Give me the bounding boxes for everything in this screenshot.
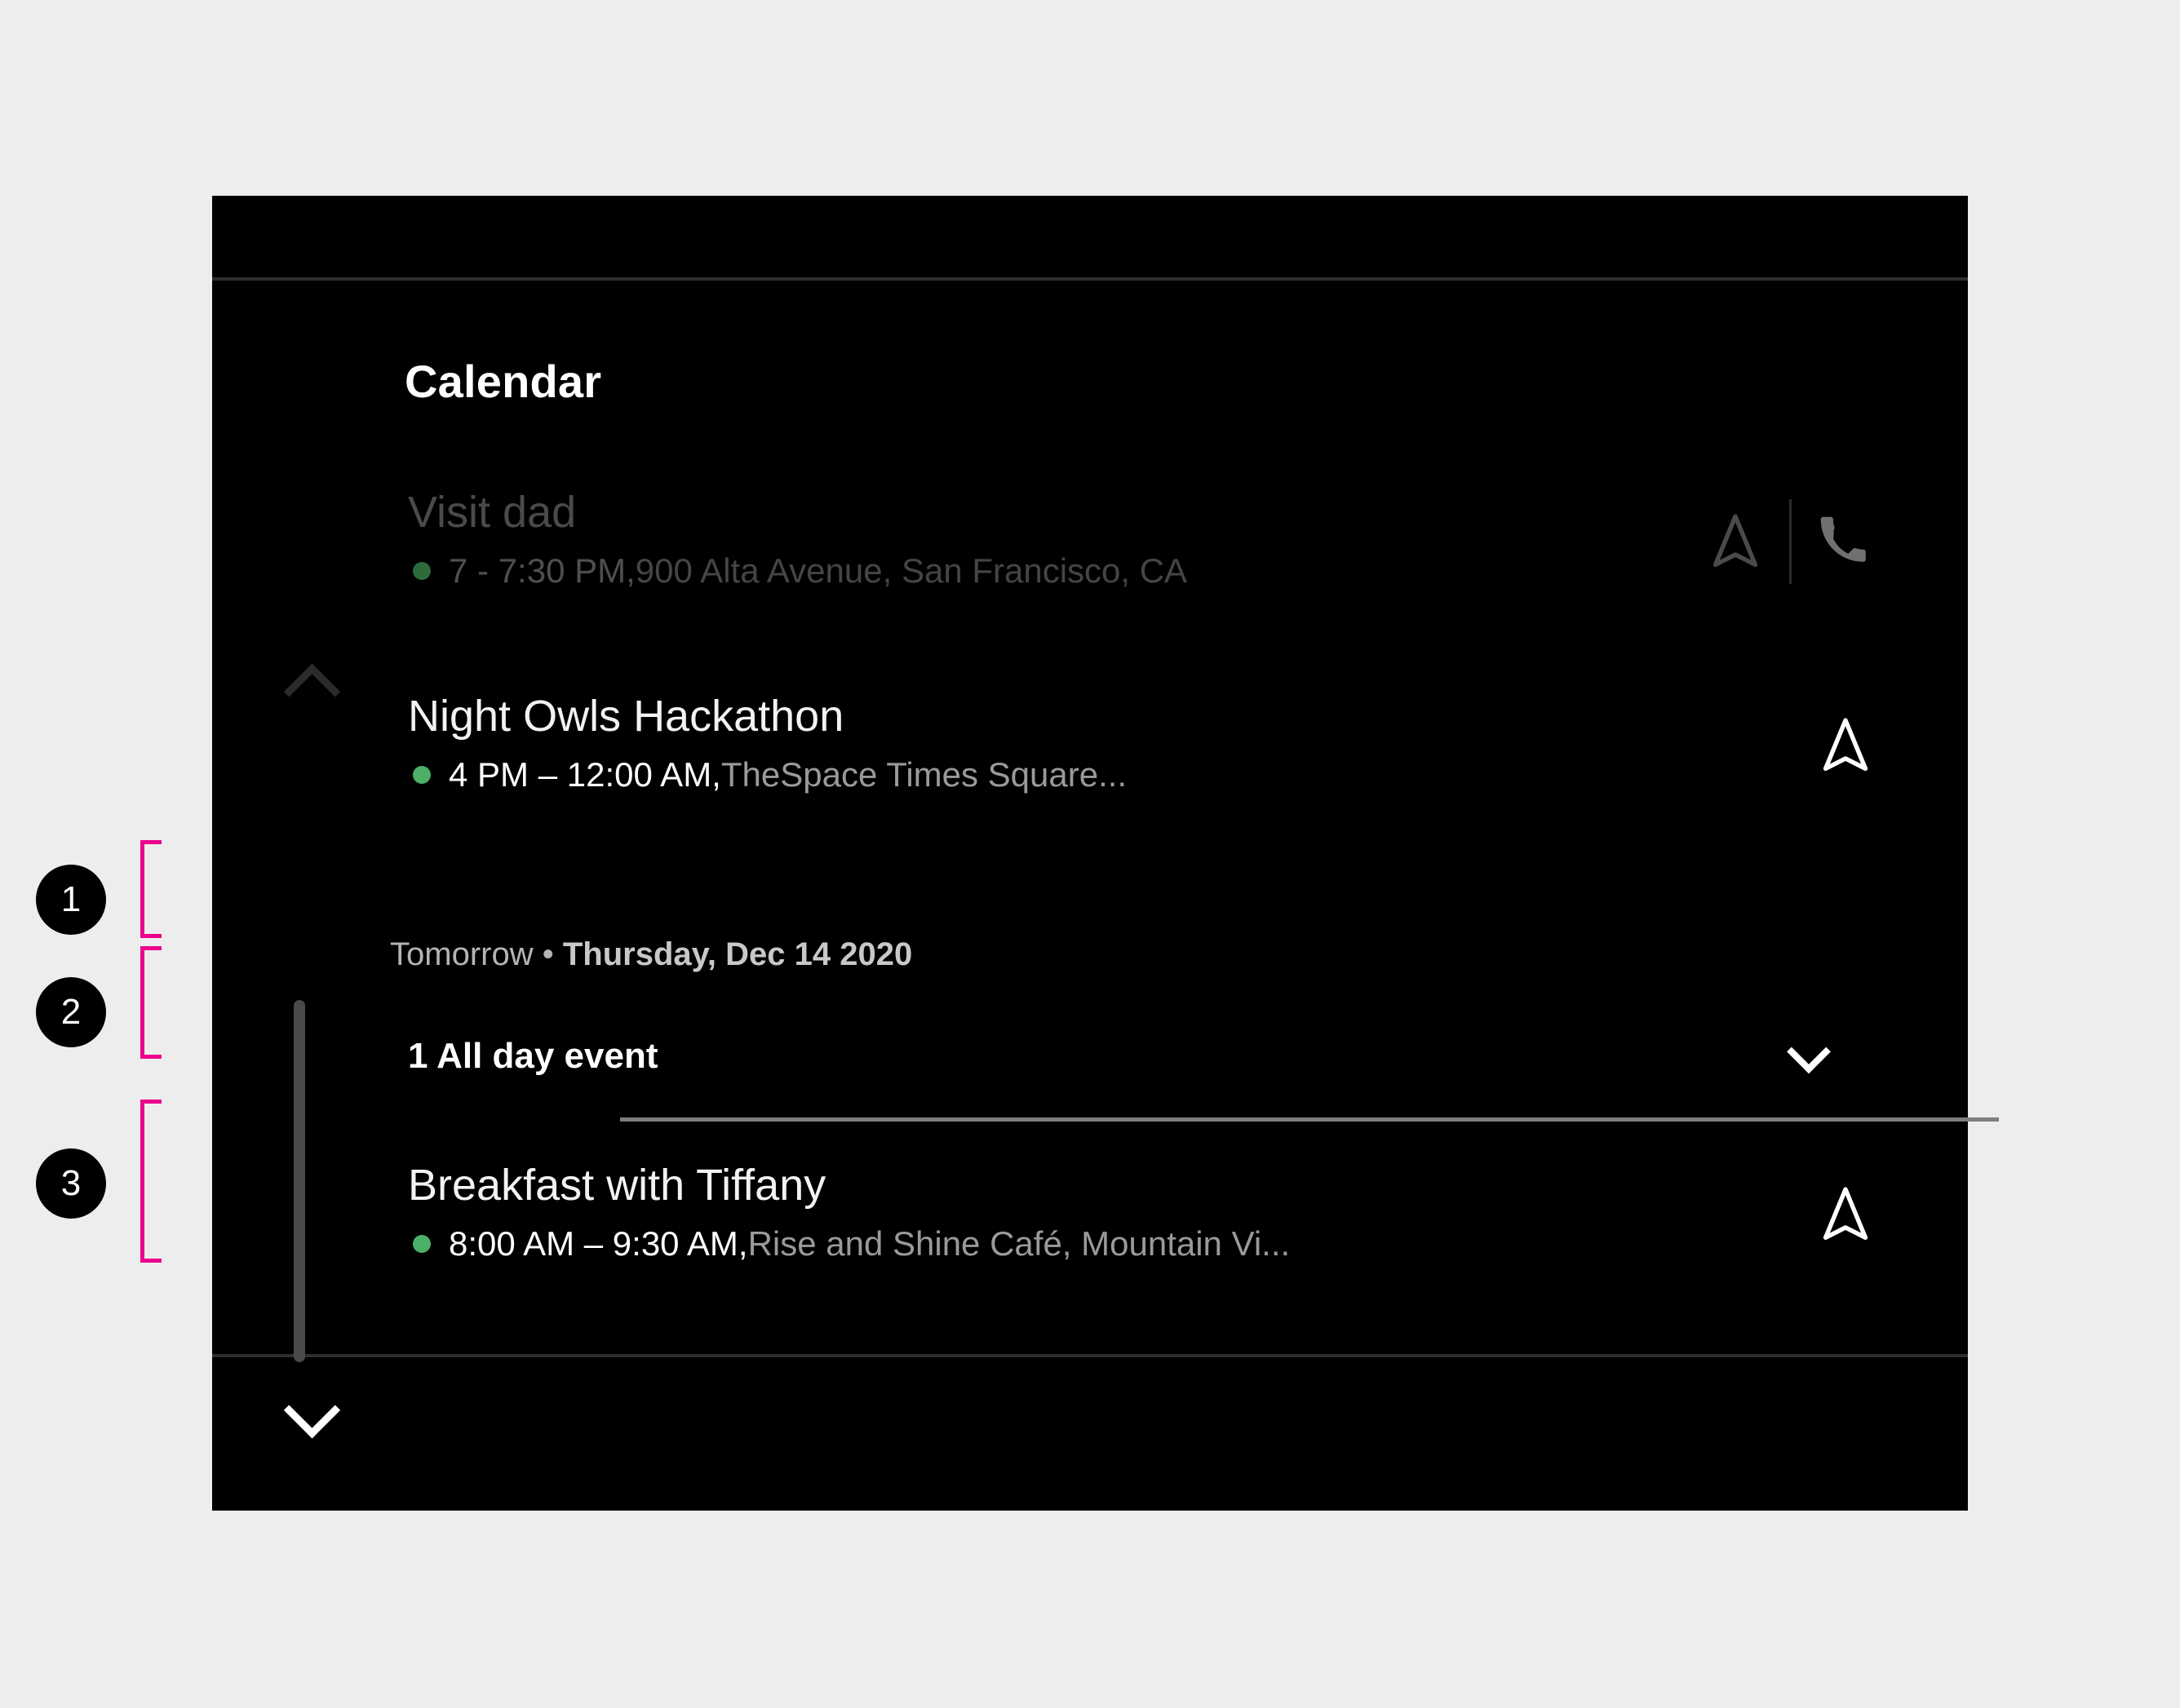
scroll-down-button[interactable] — [277, 1380, 346, 1449]
event-actions — [1686, 493, 1894, 591]
event-time: 7 - 7:30 PM, — [449, 552, 636, 590]
event-row-night-owls-hackathon[interactable]: Night Owls Hackathon 4 PM – 12:00 AM, Th… — [408, 693, 1894, 794]
event-content: Visit dad 7 - 7:30 PM, 900 Alta Avenue, … — [408, 489, 1654, 590]
calendar-screen-panel: Calendar Visit dad 7 - 7:30 PM, 900 Alta… — [212, 196, 1968, 1511]
event-actions — [1797, 1166, 1894, 1263]
event-actions — [1797, 697, 1894, 794]
day-header-prefix: Tomorrow • — [390, 936, 563, 972]
scrollbar[interactable] — [294, 734, 305, 1362]
event-row-breakfast-with-tiffany[interactable]: Breakfast with Tiffany 8:00 AM – 9:30 AM… — [408, 1162, 1894, 1263]
event-time: 8:00 AM – 9:30 AM, — [449, 1225, 748, 1263]
chevron-up-icon — [283, 663, 339, 719]
event-content: Night Owls Hackathon 4 PM – 12:00 AM, Th… — [408, 693, 1764, 794]
event-location: 900 Alta Avenue, San Francisco, CA — [636, 552, 1187, 590]
page-title: Calendar — [405, 355, 601, 408]
navigate-icon — [1820, 716, 1871, 775]
event-row-visit-dad[interactable]: Visit dad 7 - 7:30 PM, 900 Alta Avenue, … — [408, 489, 1894, 591]
event-time: 4 PM – 12:00 AM, — [449, 756, 721, 794]
call-button[interactable] — [1797, 493, 1894, 591]
annotation-bracket-1 — [140, 840, 162, 938]
event-subtitle: 7 - 7:30 PM, 900 Alta Avenue, San Franci… — [408, 552, 1654, 590]
event-title: Visit dad — [408, 489, 1654, 536]
screen-top-bar — [212, 196, 1968, 281]
annotation-bracket-3 — [140, 1100, 162, 1263]
all-day-event-row[interactable]: 1 All day event — [408, 1028, 1837, 1085]
scroll-up-button[interactable] — [277, 653, 346, 721]
event-content: Breakfast with Tiffany 8:00 AM – 9:30 AM… — [408, 1162, 1764, 1263]
navigate-button[interactable] — [1686, 493, 1784, 591]
list-divider — [620, 1117, 1999, 1122]
annotation-marker-1: 1 — [36, 865, 106, 935]
event-status-dot — [413, 1235, 431, 1253]
annotation-overlay: 1 2 3 — [0, 0, 212, 1708]
day-header: Tomorrow • Thursday, Dec 14 2020 — [390, 936, 912, 973]
event-subtitle: 4 PM – 12:00 AM, TheSpace Times Square..… — [408, 756, 1764, 794]
all-day-expand-button[interactable] — [1780, 1028, 1837, 1085]
annotation-marker-3: 3 — [36, 1148, 106, 1219]
annotation-marker-2: 2 — [36, 977, 106, 1047]
chevron-down-icon — [1787, 1029, 1831, 1073]
navigate-icon — [1820, 1185, 1871, 1244]
event-title: Breakfast with Tiffany — [408, 1162, 1764, 1209]
action-divider — [1789, 499, 1792, 584]
navigate-button[interactable] — [1797, 697, 1894, 794]
scrollbar-thumb[interactable] — [294, 1000, 305, 1362]
event-location: TheSpace Times Square... — [721, 756, 1127, 794]
call-icon — [1819, 515, 1872, 569]
event-subtitle: 8:00 AM – 9:30 AM, Rise and Shine Café, … — [408, 1225, 1764, 1263]
event-status-dot — [413, 766, 431, 784]
all-day-event-label: 1 All day event — [408, 1036, 658, 1077]
event-location: Rise and Shine Café, Mountain Vi... — [748, 1225, 1291, 1263]
event-title: Night Owls Hackathon — [408, 693, 1764, 740]
chevron-down-icon — [283, 1382, 339, 1438]
screen-bottom-bar — [212, 1354, 1968, 1511]
navigate-icon — [1710, 512, 1761, 571]
event-status-dot — [413, 562, 431, 580]
navigate-button[interactable] — [1797, 1166, 1894, 1263]
annotation-bracket-2 — [140, 946, 162, 1059]
day-header-date: Thursday, Dec 14 2020 — [563, 936, 912, 972]
